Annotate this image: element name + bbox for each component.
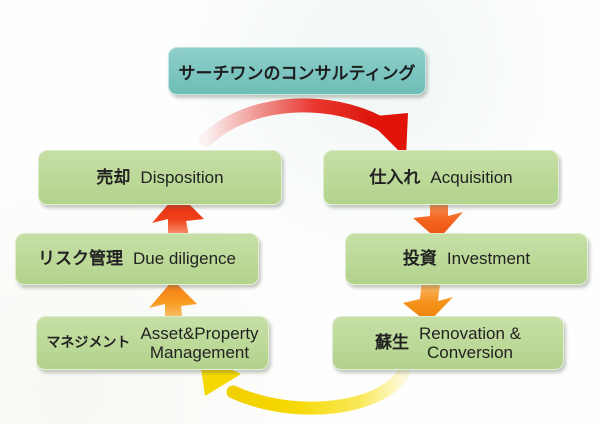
node-due-diligence-label-jp: リスク管理 xyxy=(38,249,123,268)
node-renovation[interactable]: 蘇生 Renovation & Conversion xyxy=(332,316,564,370)
node-acquisition-label-en: Acquisition xyxy=(430,168,512,187)
node-acquisition-label-jp: 仕入れ xyxy=(369,168,420,187)
node-acquisition-content: 仕入れ Acquisition xyxy=(361,168,520,187)
diagram-canvas: サーチワンのコンサルティング 売却 Disposition 仕入れ Acquis… xyxy=(0,0,600,424)
node-disposition-label-jp: 売却 xyxy=(96,168,130,187)
node-management-label-en: Asset&Property Management xyxy=(140,324,258,362)
node-acquisition[interactable]: 仕入れ Acquisition xyxy=(323,150,559,205)
node-disposition[interactable]: 売却 Disposition xyxy=(38,150,282,205)
node-disposition-content: 売却 Disposition xyxy=(88,168,231,187)
node-disposition-label-en: Disposition xyxy=(140,168,223,187)
node-due-diligence[interactable]: リスク管理 Due diligence xyxy=(15,233,259,285)
node-investment-label-jp: 投資 xyxy=(403,249,437,268)
node-investment-label-en: Investment xyxy=(447,249,530,268)
node-due-diligence-content: リスク管理 Due diligence xyxy=(30,249,244,268)
node-investment-content: 投資 Investment xyxy=(395,249,538,268)
node-due-diligence-label-en: Due diligence xyxy=(133,249,236,268)
node-consulting[interactable]: サーチワンのコンサルティング xyxy=(168,47,426,95)
node-consulting-label: サーチワンのコンサルティング xyxy=(179,59,416,84)
node-management[interactable]: マネジメント Asset&Property Management xyxy=(36,316,269,370)
node-management-label-jp: マネジメント xyxy=(46,335,130,351)
node-renovation-content: 蘇生 Renovation & Conversion xyxy=(367,324,529,362)
node-investment[interactable]: 投資 Investment xyxy=(345,233,588,285)
node-renovation-label-jp: 蘇生 xyxy=(375,333,409,352)
node-management-content: マネジメント Asset&Property Management xyxy=(38,324,266,362)
node-renovation-label-en: Renovation & Conversion xyxy=(419,324,521,362)
